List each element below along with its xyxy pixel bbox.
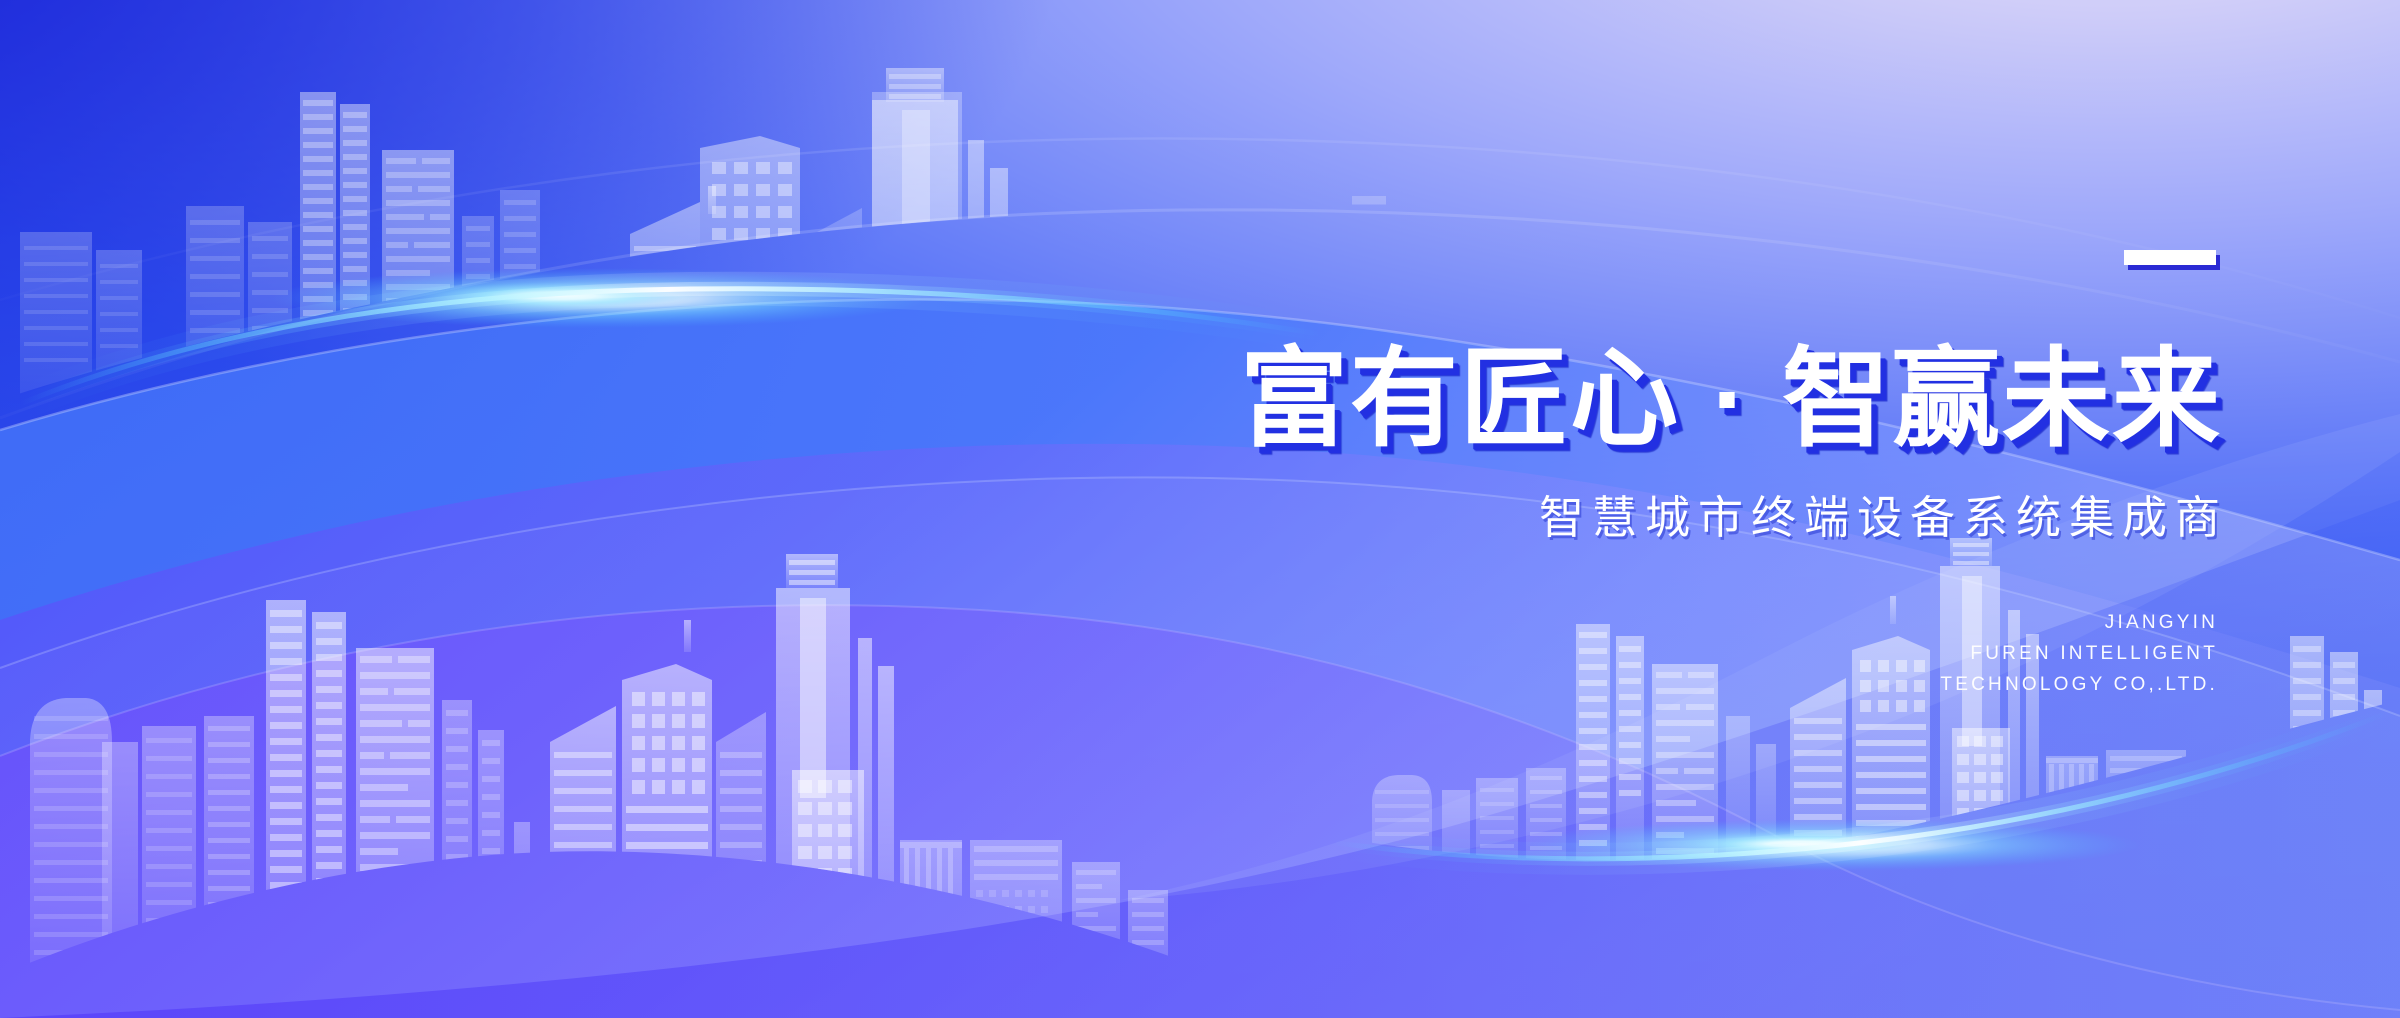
company-name-english: JIANGYIN FUREN INTELLIGENT TECHNOLOGY CO… bbox=[1050, 608, 2218, 700]
accent-dash-icon bbox=[2124, 250, 2216, 265]
headline-group: 富有匠心 · 智赢未来 智慧城市终端设备系统集成商 JIANGYIN FUREN… bbox=[1050, 250, 2240, 701]
promo-banner: 富有匠心 · 智赢未来 智慧城市终端设备系统集成商 JIANGYIN FUREN… bbox=[0, 0, 2400, 1018]
company-line-1: JIANGYIN bbox=[1050, 608, 2218, 639]
page-subtitle: 智慧城市终端设备系统集成商 bbox=[1050, 481, 2228, 546]
company-line-3: TECHNOLOGY CO,.LTD. bbox=[1050, 670, 2218, 701]
company-line-2: FUREN INTELLIGENT bbox=[1050, 639, 2218, 670]
page-title: 富有匠心 · 智赢未来 bbox=[1050, 342, 2222, 455]
